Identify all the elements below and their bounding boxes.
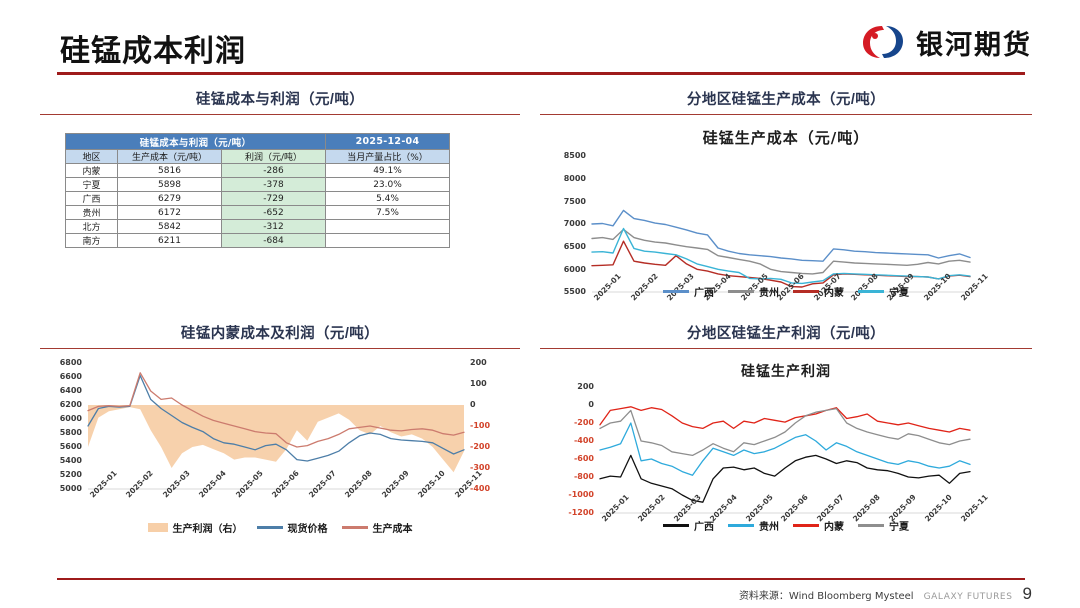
legend-item: 内蒙 bbox=[793, 284, 844, 299]
cell-region: 宁夏 bbox=[66, 178, 118, 192]
col-header-share: 当月产量占比（%） bbox=[326, 150, 450, 164]
legend-item: 现货价格 bbox=[257, 520, 328, 535]
y-axis-tick: 5800 bbox=[40, 428, 82, 437]
y-axis-tick: 5200 bbox=[40, 470, 82, 479]
y-axis-tick: 7500 bbox=[540, 197, 586, 206]
y-axis-tick: 6500 bbox=[540, 242, 586, 251]
y-axis-tick: 5400 bbox=[40, 456, 82, 465]
cell-profit: -652 bbox=[222, 206, 326, 220]
cell-cost: 6211 bbox=[118, 234, 222, 248]
y-axis-tick: 5600 bbox=[40, 442, 82, 451]
chart-title-profit: 硅锰生产利润 bbox=[540, 361, 1032, 381]
cell-share: 23.0% bbox=[326, 178, 450, 192]
legend-item: 广西 bbox=[663, 284, 714, 299]
panel-header-inner-mongolia: 硅锰内蒙成本及利润（元/吨） bbox=[40, 322, 520, 349]
panel-header-divider bbox=[540, 114, 1032, 115]
y-axis-tick-right: 100 bbox=[470, 379, 487, 388]
chart-inner-mongolia: 5000520054005600580060006200640066006800… bbox=[40, 357, 520, 537]
chart-legend-profit: 广西贵州内蒙宁夏 bbox=[540, 518, 1032, 533]
legend-line-swatch bbox=[728, 290, 754, 292]
y-axis-tick: -600 bbox=[540, 454, 594, 463]
legend-line-swatch bbox=[663, 290, 689, 292]
cell-profit: -684 bbox=[222, 234, 326, 248]
cell-region: 北方 bbox=[66, 220, 118, 234]
cell-share bbox=[326, 220, 450, 234]
col-header-profit: 利润（元/吨） bbox=[222, 150, 326, 164]
col-header-region: 地区 bbox=[66, 150, 118, 164]
cell-share: 7.5% bbox=[326, 206, 450, 220]
panel-header-label: 硅锰内蒙成本及利润（元/吨） bbox=[40, 322, 520, 343]
cell-share bbox=[326, 234, 450, 248]
legend-label: 生产成本 bbox=[373, 520, 413, 535]
plot-im-svg bbox=[40, 357, 510, 537]
chart-title-cost: 硅锰生产成本（元/吨） bbox=[540, 127, 1032, 148]
y-axis-tick-right: 200 bbox=[470, 358, 487, 367]
plot-cost-svg bbox=[540, 148, 1010, 348]
y-axis-tick-right: -200 bbox=[470, 442, 490, 451]
legend-label: 内蒙 bbox=[824, 518, 844, 533]
legend-line-swatch bbox=[793, 524, 819, 526]
chart-regional-profit: 2000-200-400-600-800-1000-12002025-01202… bbox=[540, 381, 1032, 561]
legend-label: 宁夏 bbox=[889, 284, 909, 299]
legend-item: 宁夏 bbox=[858, 518, 909, 533]
footer-divider bbox=[57, 578, 1025, 580]
y-axis-tick: -400 bbox=[540, 436, 594, 445]
y-axis-tick: 6200 bbox=[40, 400, 82, 409]
table-row: 内蒙 5816 -286 49.1% bbox=[66, 164, 450, 178]
cell-cost: 6172 bbox=[118, 206, 222, 220]
page-title: 硅锰成本利润 bbox=[60, 26, 246, 70]
panel-header-divider bbox=[540, 348, 1032, 349]
legend-item: 宁夏 bbox=[858, 284, 909, 299]
cell-cost: 5816 bbox=[118, 164, 222, 178]
cell-cost: 5842 bbox=[118, 220, 222, 234]
legend-line-swatch bbox=[663, 524, 689, 526]
legend-label: 内蒙 bbox=[824, 284, 844, 299]
panel-regional-cost: 分地区硅锰生产成本（元/吨） 硅锰生产成本（元/吨） 5500600065007… bbox=[540, 88, 1032, 348]
cell-share: 5.4% bbox=[326, 192, 450, 206]
y-axis-tick: 6800 bbox=[40, 358, 82, 367]
cell-region: 南方 bbox=[66, 234, 118, 248]
legend-label: 贵州 bbox=[759, 518, 779, 533]
legend-label: 生产利润（右） bbox=[173, 520, 243, 535]
y-axis-tick: 5000 bbox=[40, 484, 82, 493]
y-axis-tick: -1200 bbox=[540, 508, 594, 517]
plot-profit-svg bbox=[540, 381, 1010, 561]
legend-item: 内蒙 bbox=[793, 518, 844, 533]
panel-header-divider bbox=[40, 114, 520, 115]
legend-label: 广西 bbox=[694, 284, 714, 299]
table-row: 南方 6211 -684 bbox=[66, 234, 450, 248]
y-axis-tick: 8500 bbox=[540, 151, 586, 160]
cell-share: 49.1% bbox=[326, 164, 450, 178]
table-title-row: 硅锰成本与利润（元/吨） 2025-12-04 bbox=[66, 134, 450, 150]
cell-region: 贵州 bbox=[66, 206, 118, 220]
cell-profit: -312 bbox=[222, 220, 326, 234]
legend-area-swatch bbox=[148, 523, 168, 532]
panel-header-cost-and-profit: 硅锰成本与利润（元/吨） bbox=[40, 88, 520, 115]
y-axis-tick-right: 0 bbox=[470, 400, 476, 409]
footer: 资料来源：Wind Bloomberg Mysteel GALAXY FUTUR… bbox=[739, 584, 1032, 604]
y-axis-tick: 8000 bbox=[540, 174, 586, 183]
legend-label: 贵州 bbox=[759, 284, 779, 299]
cell-profit: -286 bbox=[222, 164, 326, 178]
col-header-cost: 生产成本（元/吨） bbox=[118, 150, 222, 164]
chart-regional-cost: 55006000650070007500800085002025-012025-… bbox=[540, 148, 1032, 348]
panel-regional-profit: 分地区硅锰生产利润（元/吨） 硅锰生产利润 2000-200-400-600-8… bbox=[540, 322, 1032, 561]
legend-item: 贵州 bbox=[728, 518, 779, 533]
cell-profit: -378 bbox=[222, 178, 326, 192]
panel-cost-and-profit: 硅锰成本与利润（元/吨） bbox=[40, 88, 520, 115]
galaxy-swirl-icon bbox=[860, 22, 906, 62]
chart-legend-inner-mongolia: 生产利润（右）现货价格生产成本 bbox=[40, 520, 520, 535]
y-axis-tick: 6600 bbox=[40, 372, 82, 381]
legend-line-swatch bbox=[858, 524, 884, 526]
y-axis-tick: 6400 bbox=[40, 386, 82, 395]
y-axis-tick: -200 bbox=[540, 418, 594, 427]
brand-logo-group: 银河期货 bbox=[860, 22, 1032, 62]
page-number: 9 bbox=[1023, 584, 1032, 604]
legend-label: 现货价格 bbox=[288, 520, 328, 535]
legend-item: 生产利润（右） bbox=[148, 520, 243, 535]
table-row: 北方 5842 -312 bbox=[66, 220, 450, 234]
cell-region: 广西 bbox=[66, 192, 118, 206]
table-header-row: 地区 生产成本（元/吨） 利润（元/吨） 当月产量占比（%） bbox=[66, 150, 450, 164]
legend-item: 生产成本 bbox=[342, 520, 413, 535]
y-axis-tick: 7000 bbox=[540, 219, 586, 228]
y-axis-tick: 200 bbox=[540, 382, 594, 391]
legend-item: 贵州 bbox=[728, 284, 779, 299]
panel-header-label: 硅锰成本与利润（元/吨） bbox=[40, 88, 520, 109]
footer-source: 资料来源：Wind Bloomberg Mysteel bbox=[739, 587, 914, 602]
legend-label: 宁夏 bbox=[889, 518, 909, 533]
legend-item: 广西 bbox=[663, 518, 714, 533]
y-axis-tick-right: -100 bbox=[470, 421, 490, 430]
legend-line-swatch bbox=[257, 526, 283, 528]
cost-profit-table: 硅锰成本与利润（元/吨） 2025-12-04 地区 生产成本（元/吨） 利润（… bbox=[65, 133, 450, 248]
table-row: 广西 6279 -729 5.4% bbox=[66, 192, 450, 206]
legend-line-swatch bbox=[793, 290, 819, 292]
chart-legend-cost: 广西贵州内蒙宁夏 bbox=[540, 284, 1032, 299]
cell-cost: 5898 bbox=[118, 178, 222, 192]
table-date: 2025-12-04 bbox=[326, 134, 450, 150]
y-axis-tick: -1000 bbox=[540, 490, 594, 499]
y-axis-tick-right: -400 bbox=[470, 484, 490, 493]
y-axis-tick: -800 bbox=[540, 472, 594, 481]
legend-line-swatch bbox=[728, 524, 754, 526]
cell-cost: 6279 bbox=[118, 192, 222, 206]
title-divider bbox=[57, 72, 1025, 75]
legend-line-swatch bbox=[342, 526, 368, 528]
legend-label: 广西 bbox=[694, 518, 714, 533]
panel-inner-mongolia: 硅锰内蒙成本及利润（元/吨） 5000520054005600580060006… bbox=[40, 322, 520, 537]
y-axis-tick: 0 bbox=[540, 400, 594, 409]
table-row: 宁夏 5898 -378 23.0% bbox=[66, 178, 450, 192]
table-row: 贵州 6172 -652 7.5% bbox=[66, 206, 450, 220]
panel-header-label: 分地区硅锰生产成本（元/吨） bbox=[540, 88, 1032, 109]
panel-header-regional-profit: 分地区硅锰生产利润（元/吨） bbox=[540, 322, 1032, 349]
panel-header-regional-cost: 分地区硅锰生产成本（元/吨） bbox=[540, 88, 1032, 115]
brand-name: 银河期货 bbox=[916, 23, 1032, 62]
panel-header-divider bbox=[40, 348, 520, 349]
panel-header-label: 分地区硅锰生产利润（元/吨） bbox=[540, 322, 1032, 343]
table-title: 硅锰成本与利润（元/吨） bbox=[66, 134, 326, 150]
cell-region: 内蒙 bbox=[66, 164, 118, 178]
cell-profit: -729 bbox=[222, 192, 326, 206]
legend-line-swatch bbox=[858, 290, 884, 292]
y-axis-tick: 6000 bbox=[540, 265, 586, 274]
footer-company-en: GALAXY FUTURES bbox=[924, 592, 1013, 602]
y-axis-tick: 6000 bbox=[40, 414, 82, 423]
